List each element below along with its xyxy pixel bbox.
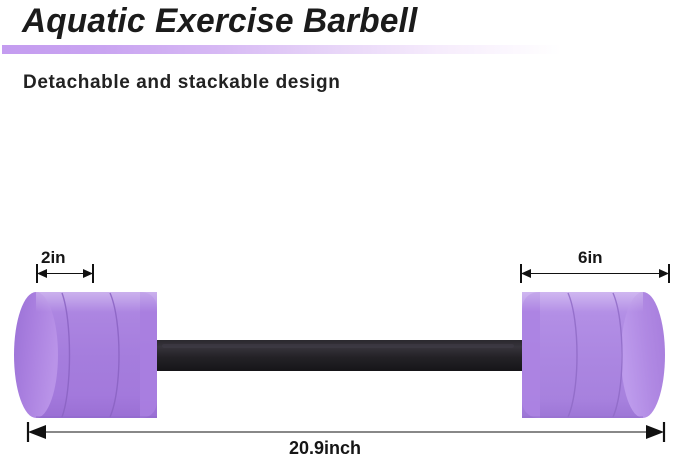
dimension-label-total-length: 20.9inch [289,438,361,459]
barbell-illustration [0,0,679,465]
product-infographic: Aquatic Exercise Barbell Detachable and … [0,0,679,465]
right-weight-stack [522,292,665,418]
left-weight-stack [14,292,157,418]
barbell-bar [150,340,530,371]
dimension-label-right-weight-width: 6in [578,248,603,268]
dimension-label-left-weight-width: 2in [41,248,66,268]
